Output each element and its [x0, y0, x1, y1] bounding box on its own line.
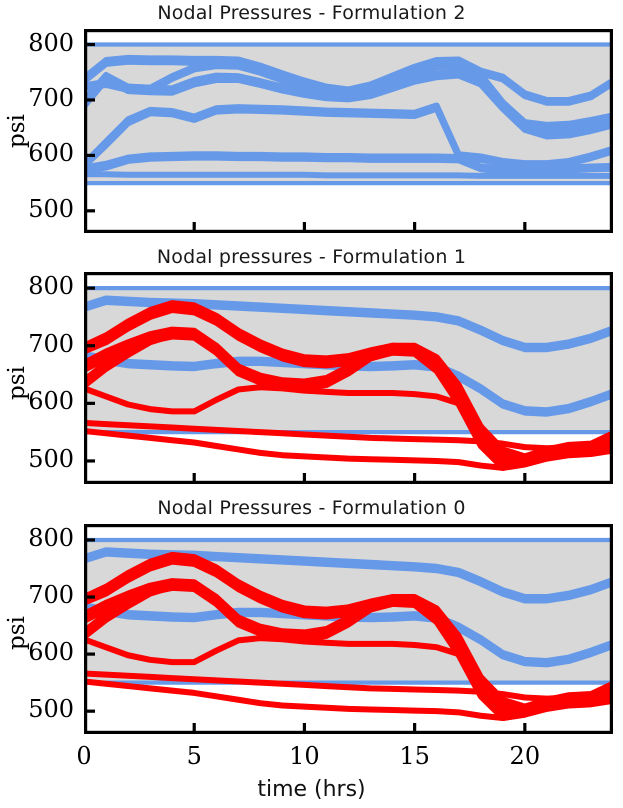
nodal-pressures-figure: Nodal Pressures - Formulation 2 Nodal pr…: [0, 0, 623, 808]
plot-area-formulation-0: [84, 524, 613, 734]
plot-area-formulation-2: [84, 29, 613, 233]
x-tick-label: 10: [264, 742, 344, 770]
y-tick-label: 700: [0, 581, 74, 609]
y-tick-label: 800: [0, 29, 74, 57]
panel-title-formulation-2: Nodal Pressures - Formulation 2: [0, 2, 623, 24]
y-tick-label: 600: [0, 139, 74, 167]
panel-title-formulation-1: Nodal pressures - Formulation 1: [0, 246, 623, 268]
y-tick-label: 500: [0, 695, 74, 723]
x-tick-label: 20: [485, 742, 565, 770]
x-tick-label: 5: [154, 742, 234, 770]
y-tick-label: 700: [0, 330, 74, 358]
y-tick-label: 500: [0, 445, 74, 473]
y-tick-label: 800: [0, 272, 74, 300]
series-node-k: [84, 174, 613, 176]
y-tick-label: 800: [0, 524, 74, 552]
plot-area-formulation-1: [84, 272, 613, 484]
panel-title-formulation-0: Nodal Pressures - Formulation 0: [0, 497, 623, 519]
y-tick-label: 500: [0, 195, 74, 223]
x-tick-label: 0: [44, 742, 124, 770]
y-tick-label: 600: [0, 638, 74, 666]
y-tick-label: 700: [0, 84, 74, 112]
y-tick-label: 600: [0, 387, 74, 415]
x-axis-label: time (hrs): [0, 777, 623, 802]
x-tick-label: 15: [375, 742, 455, 770]
